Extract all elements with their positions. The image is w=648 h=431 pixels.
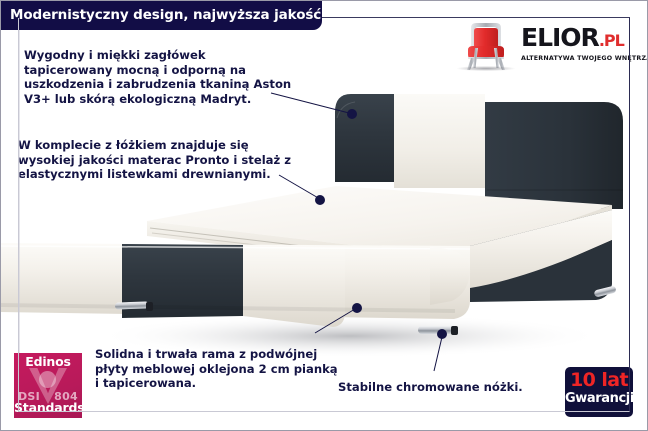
callout-dot <box>315 109 447 339</box>
product-infographic: Modernistyczny design, najwyższa jakość! <box>0 0 648 431</box>
edinos-title: Edinos <box>14 354 82 369</box>
edinos-standards-badge: Edinos DSI 804 Standards <box>14 353 82 418</box>
callout-leader-lines <box>0 0 648 431</box>
warranty-years: 10 lat <box>565 370 633 390</box>
edinos-dot-icon <box>39 371 56 388</box>
warranty-label: Gwarancji <box>565 392 633 406</box>
edinos-subtitle: Standards <box>14 400 82 415</box>
warranty-badge: 10 lat Gwarancji <box>565 367 633 417</box>
